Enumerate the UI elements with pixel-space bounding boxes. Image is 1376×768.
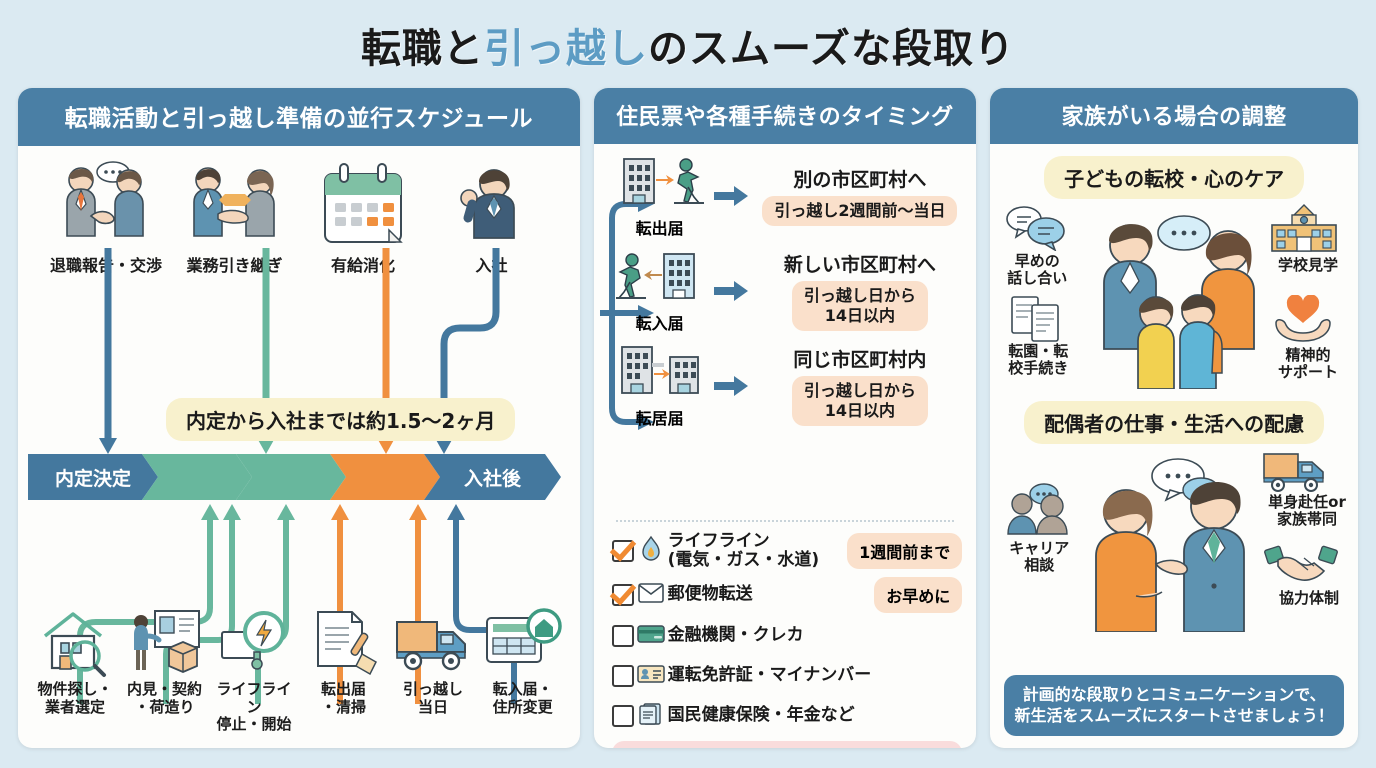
duration-badge: 内定から入社までは約1.5〜2ヶ月: [166, 398, 515, 441]
family-of-four-icon: [1076, 199, 1276, 389]
family-section1-badge: 子どもの転校・心のケア: [1044, 156, 1304, 199]
arrow-right-icon: [712, 185, 752, 207]
move-step-viewing-label: 内見・契約 ・荷造り: [122, 681, 208, 716]
checklist-item-lifeline[interactable]: ライフライン (電気・ガス・水道) 1週間前まで: [612, 532, 963, 571]
family-label-mental-support: 精神的 サポート: [1266, 347, 1350, 381]
checkbox-mail[interactable]: [612, 584, 634, 606]
relocation-notice-icon: 転居届: [608, 343, 712, 429]
panel-procedures-body: 転出届 別の市区町村へ 引っ越し2週間前〜当日: [594, 144, 977, 748]
panel-schedule: 転職活動と引っ越し準備の並行スケジュール: [18, 88, 580, 748]
move-step-moving-day: 引っ越し 当日: [390, 602, 476, 734]
panels-container: 転職活動と引っ越し準備の並行スケジュール: [0, 88, 1376, 748]
move-step-moveout: 転出届 ・清掃: [301, 602, 387, 734]
checklist-item-license[interactable]: 運転免許証・マイナンバー: [612, 659, 963, 693]
documents-icon: [634, 703, 668, 729]
notice-text-moveout: 別の市区町村へ 引っ越し2週間前〜当日: [752, 165, 977, 226]
family-scene-children: 早めの 話し合い 転園・転 校手続き: [990, 199, 1358, 395]
moving-truck-icon: [1262, 448, 1336, 498]
move-step-search: 物件探し・ 業者選定: [32, 602, 118, 734]
section-divider: [616, 520, 955, 522]
family-label-school-transfer: 転園・転 校手続き: [998, 343, 1078, 377]
timeline-stage-2: [142, 454, 252, 500]
title-pre: 転職と: [361, 26, 484, 72]
move-step-moveout-label: 転出届 ・清掃: [301, 681, 387, 716]
title-post: のスムーズな段取り: [648, 26, 1015, 72]
checklist-label-lifeline: ライフライン (電気・ガス・水道): [668, 532, 848, 571]
residence-notices-list: 転出届 別の市区町村へ 引っ越し2週間前〜当日: [594, 148, 977, 433]
house-search-icon: [32, 602, 118, 678]
gas-flame-icon: [634, 535, 668, 567]
couple-talking-icon: [1074, 446, 1280, 632]
spouse-label-cooperation: 協力体制: [1264, 590, 1354, 607]
timeline-stage-1: 内定決定: [28, 454, 158, 500]
panel-procedures-header: 住民票や各種手続きのタイミング: [594, 88, 977, 144]
move-step-search-label: 物件探し・ 業者選定: [32, 681, 118, 716]
handover-icon: [175, 156, 295, 248]
timeline-bar: 内定決定 入社後: [28, 454, 573, 500]
checklist-label-insurance: 国民健康保険・年金など: [668, 706, 963, 725]
family-scene-spouse: キャリア 相談 単身赴任or 家族帯同: [990, 444, 1358, 632]
moveout-cleaning-icon: [301, 602, 387, 678]
notice-row-movein: 転入届 新しい市区町村へ 引っ越し日から 14日以内: [594, 243, 977, 338]
id-card-icon: [634, 664, 668, 688]
panel-family-body: 子どもの転校・心のケア: [990, 144, 1358, 748]
notice-text-movein: 新しい市区町村へ 引っ越し日から 14日以内: [752, 250, 977, 331]
checklist-item-insurance[interactable]: 国民健康保険・年金など: [612, 699, 963, 733]
arrow-right-icon: [712, 375, 752, 397]
spouse-label-career: キャリア 相談: [998, 540, 1080, 574]
notice-pill-relocation: 引っ越し日から 14日以内: [792, 376, 928, 426]
family-label-early-talk: 早めの 話し合い: [998, 253, 1076, 287]
spouse-label-assignment: 単身赴任or 家族帯同: [1260, 494, 1354, 528]
movein-notice-label: 転入届: [608, 310, 712, 334]
checklist-label-bank: 金融機関・クレカ: [668, 626, 963, 645]
calendar-icon: [303, 156, 423, 248]
checkbox-license[interactable]: [612, 665, 634, 687]
consultation-icon: [1004, 482, 1078, 542]
closing-message: 計画的な段取りとコミュニケーションで、 新生活をスムーズにスタートさせましょう！: [1004, 675, 1344, 736]
envelope-icon: [634, 583, 668, 607]
checklist-pill-mail: お早めに: [874, 577, 962, 613]
checkbox-bank[interactable]: [612, 625, 634, 647]
checklist-label-mail: 郵便物転送: [668, 585, 875, 604]
panel-family: 家族がいる場合の調整 子どもの転校・心のケア: [990, 88, 1358, 748]
procedures-checklist: ライフライン (電気・ガス・水道) 1週間前まで 郵便物転送 お早めに: [612, 532, 963, 748]
page-title: 転職と引っ越しのスムーズな段取り: [0, 0, 1376, 88]
address-change-icon: [480, 602, 566, 678]
new-employee-icon: [432, 156, 552, 248]
move-step-address-change-label: 転入届・ 住所変更: [480, 681, 566, 716]
school-building-icon: [1266, 203, 1342, 259]
moveout-notice-icon: 転出届: [608, 153, 712, 239]
move-step-address-change: 転入届・ 住所変更: [480, 602, 566, 734]
handshake-icon: [1264, 542, 1338, 592]
title-highlight: 引っ越し: [484, 26, 648, 72]
timeline-stage-5: 入社後: [424, 454, 561, 500]
move-step-viewing: 内見・契約 ・荷造り: [122, 602, 208, 734]
viewing-contract-icon: [122, 602, 208, 678]
move-step-utilities-label: ライフライン 停止・開始: [211, 681, 297, 734]
deadline-warning: 期限を過ぎると過料の可能性も！: [612, 741, 963, 748]
movein-notice-icon: 転入届: [608, 248, 712, 334]
timeline-stage-3: [236, 454, 346, 500]
notice-head-moveout: 別の市区町村へ: [752, 165, 969, 192]
checklist-item-mail[interactable]: 郵便物転送 お早めに: [612, 577, 963, 613]
move-step-utilities: ライフライン 停止・開始: [211, 602, 297, 734]
checklist-pill-lifeline: 1週間前まで: [847, 533, 962, 569]
documents-icon: [1008, 295, 1066, 347]
notice-text-relocation: 同じ市区町村内 引っ越し日から 14日以内: [752, 345, 977, 426]
notice-row-relocation: 転居届 同じ市区町村内 引っ越し日から 14日以内: [594, 338, 977, 433]
family-section2-badge: 配偶者の仕事・生活への配慮: [1024, 401, 1324, 444]
notice-pill-movein: 引っ越し日から 14日以内: [792, 281, 928, 331]
handshake-discussion-icon: [46, 156, 166, 248]
moving-steps-row: 物件探し・ 業者選定: [32, 602, 566, 734]
move-step-moving-day-label: 引っ越し 当日: [390, 681, 476, 716]
panel-procedures: 住民票や各種手続きのタイミング: [594, 88, 977, 748]
family-label-school-visit: 学校見学: [1266, 257, 1350, 274]
checkbox-insurance[interactable]: [612, 705, 634, 727]
panel-family-header: 家族がいる場合の調整: [990, 88, 1358, 144]
notice-head-movein: 新しい市区町村へ: [752, 250, 969, 277]
heart-in-hands-icon: [1270, 295, 1336, 349]
notice-row-moveout: 転出届 別の市区町村へ 引っ越し2週間前〜当日: [594, 148, 977, 243]
credit-card-icon: [634, 624, 668, 648]
speech-bubbles-icon: [1004, 205, 1068, 255]
timeline-stage-4: [330, 454, 440, 500]
relocation-notice-label: 転居届: [608, 405, 712, 429]
checkbox-lifeline[interactable]: [612, 540, 634, 562]
checklist-label-license: 運転免許証・マイナンバー: [668, 666, 963, 685]
notice-head-relocation: 同じ市区町村内: [752, 345, 969, 372]
arrow-right-icon: [712, 280, 752, 302]
moving-truck-icon: [390, 602, 476, 678]
moveout-notice-label: 転出届: [608, 215, 712, 239]
panel-schedule-header: 転職活動と引っ越し準備の並行スケジュール: [18, 88, 580, 146]
checklist-item-bank[interactable]: 金融機関・クレカ: [612, 619, 963, 653]
panel-schedule-body: 退職報告・交渉: [18, 146, 580, 748]
utilities-icon: [211, 602, 297, 678]
notice-pill-moveout: 引っ越し2週間前〜当日: [762, 196, 957, 226]
